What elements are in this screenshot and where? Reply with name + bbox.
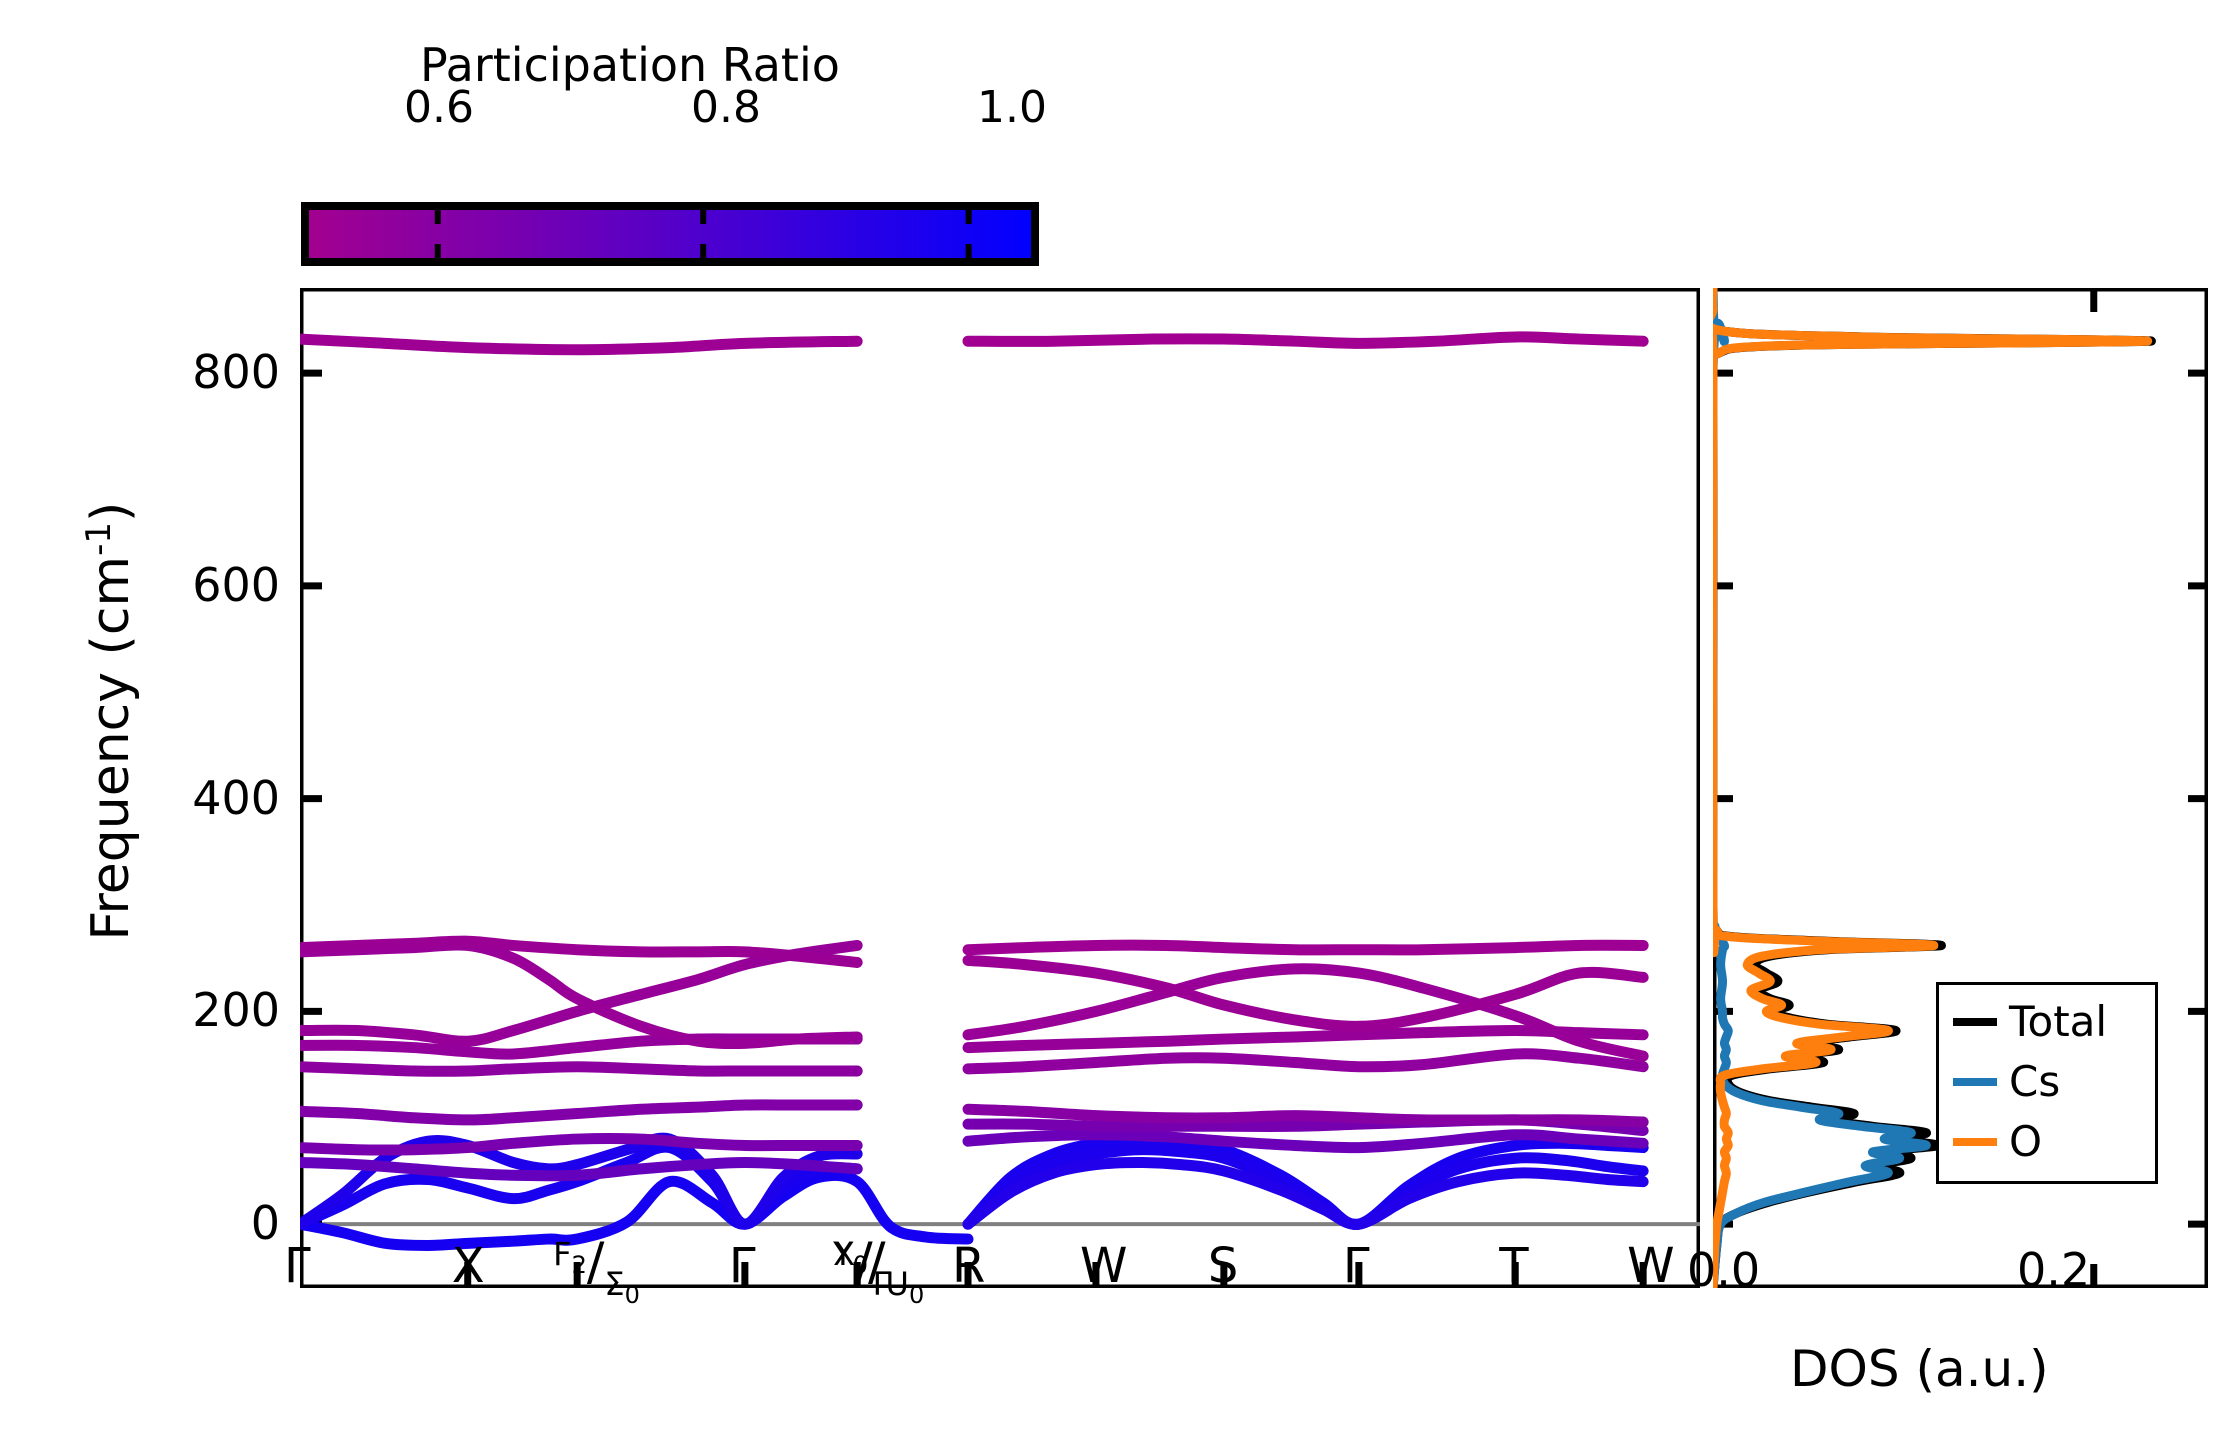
colorbar-title: Participation Ratio <box>420 38 840 92</box>
dos-xtick-1: 0.2 <box>2017 1243 2090 1297</box>
legend-label-total: Total <box>2009 997 2107 1046</box>
y-axis-label-text: Frequency (cm <box>81 556 141 941</box>
y-tick-label-600: 600 <box>100 558 280 612</box>
x-tick-label-9: Γ <box>1343 1238 1370 1294</box>
x-tick-label-0: Γ <box>284 1238 311 1294</box>
y-tick-label-800: 800 <box>100 345 280 399</box>
legend-item-total: Total <box>1953 997 2107 1046</box>
legend-swatch-total <box>1953 1018 1997 1026</box>
x-tick-label-7: W <box>1080 1238 1127 1294</box>
colorbar-tick-0: 0.6 <box>404 82 474 133</box>
legend-item-o: O <box>1953 1117 2042 1166</box>
x-tick-label-2: F2/Σ0 <box>553 1232 640 1292</box>
x-tick-label-8: S <box>1208 1238 1238 1294</box>
legend-label-cs: Cs <box>2009 1057 2060 1106</box>
legend-swatch-o <box>1953 1138 1997 1146</box>
colorbar-tick-2: 1.0 <box>977 82 1047 133</box>
y-axis-label-exp: -1 <box>79 522 119 556</box>
legend-item-cs: Cs <box>1953 1057 2060 1106</box>
y-tick-label-200: 200 <box>100 983 280 1037</box>
y-tick-label-0: 0 <box>100 1196 280 1250</box>
x-tick-label-5: X/Γ <box>833 1232 890 1292</box>
dos-axis-label: DOS (a.u.) <box>1790 1340 2049 1398</box>
dos-legend: TotalCsO <box>1936 982 2158 1184</box>
band-curve <box>968 945 1643 950</box>
figure-canvas: Participation Ratio 0.6 0.8 1.0 Frequenc… <box>0 0 2222 1455</box>
colorbar-tick-1: 0.8 <box>691 82 761 133</box>
x-tick-label-6: R <box>952 1238 985 1294</box>
x-tick-label-3: Γ <box>729 1238 756 1294</box>
dos-xtick-0: 0.0 <box>1687 1243 1760 1297</box>
x-tick-label-1: X <box>452 1238 485 1294</box>
y-axis-label: Frequency (cm-1) <box>79 411 141 1031</box>
legend-label-o: O <box>2009 1117 2042 1166</box>
y-tick-label-400: 400 <box>100 771 280 825</box>
x-tick-label-11: W <box>1627 1238 1674 1294</box>
band-curve <box>300 1067 857 1072</box>
legend-swatch-cs <box>1953 1078 1997 1086</box>
band-structure-plot <box>300 288 1700 1288</box>
band-curve <box>968 337 1643 343</box>
y-axis-label-tail: ) <box>81 502 141 522</box>
participation-ratio-colorbar <box>300 198 1040 268</box>
x-tick-label-10: T <box>1499 1238 1528 1294</box>
